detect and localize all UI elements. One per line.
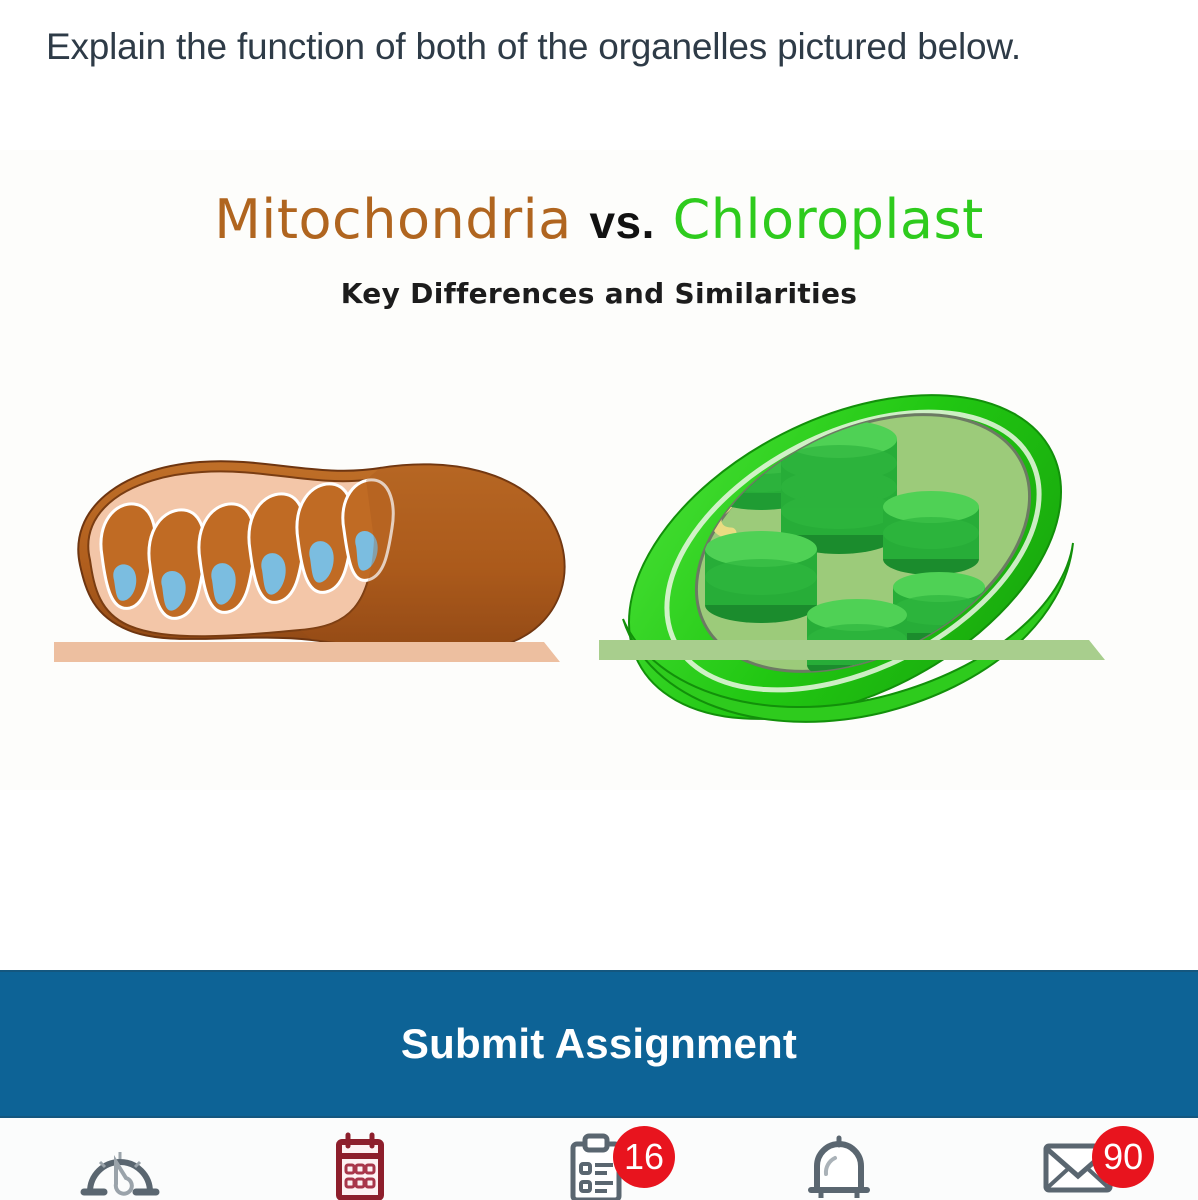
tab-calendar[interactable]: [240, 1118, 480, 1200]
assignment-screen: Explain the function of both of the orga…: [0, 0, 1198, 1200]
tab-alerts[interactable]: [719, 1118, 959, 1200]
diagram-subtitle: Key Differences and Similarities: [0, 277, 1198, 310]
chloroplast-illustration: [595, 375, 1115, 750]
tab-dashboard[interactable]: [0, 1118, 240, 1200]
submit-assignment-button[interactable]: Submit Assignment: [0, 970, 1198, 1118]
assignments-badge: 16: [613, 1126, 675, 1188]
bell-icon: [797, 1132, 881, 1200]
mitochondria-illustration: [50, 390, 590, 750]
bottom-tab-bar: 16: [0, 1118, 1198, 1200]
chloroplast-shadow-plate: [599, 640, 1105, 660]
messages-badge: 90: [1092, 1126, 1154, 1188]
submit-assignment-label: Submit Assignment: [401, 1020, 797, 1068]
tab-assignments[interactable]: 16: [479, 1118, 719, 1200]
tab-messages[interactable]: 90: [958, 1118, 1198, 1200]
organelle-diagram: Mitochondria vs. Chloroplast Key Differe…: [0, 150, 1198, 790]
question-prompt: Explain the function of both of the orga…: [46, 18, 1046, 75]
diagram-title-chloroplast: Chloroplast: [673, 188, 984, 251]
calendar-icon: [317, 1132, 401, 1200]
gauge-icon: [78, 1132, 162, 1200]
envelope-icon: 90: [1036, 1132, 1120, 1200]
diagram-title: Mitochondria vs. Chloroplast: [0, 188, 1198, 251]
diagram-title-mitochondria: Mitochondria: [214, 188, 572, 251]
diagram-title-vs: vs.: [589, 196, 654, 248]
clipboard-icon: 16: [557, 1132, 641, 1200]
mitochondria-shadow-plate: [54, 642, 560, 662]
